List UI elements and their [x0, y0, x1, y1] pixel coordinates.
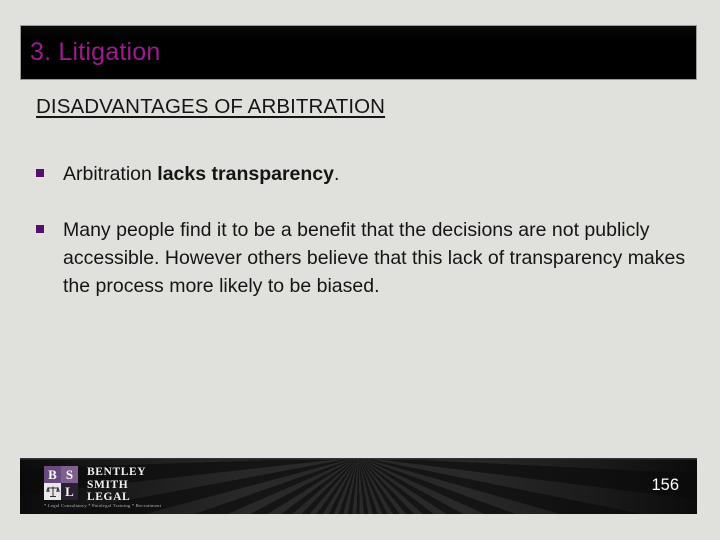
- logo-letter-l: L: [61, 483, 78, 500]
- square-bullet-icon: [36, 169, 44, 177]
- list-item: Many people find it to be a benefit that…: [36, 216, 686, 300]
- logo-mark: B S L: [44, 466, 78, 500]
- logo-tagline: * Legal Consultancy * Paralegal Training…: [44, 503, 161, 509]
- logo-letter-b: B: [44, 466, 61, 483]
- list-item-text: Many people find it to be a benefit that…: [63, 216, 686, 300]
- footer-top-edge: [20, 458, 697, 460]
- logo-letter-s: S: [61, 466, 78, 483]
- scales-of-justice-icon: [44, 483, 61, 500]
- slide-footer: B S L BENTLEY: [20, 458, 697, 514]
- bullet-list: Arbitration lacks transparency. Many peo…: [36, 160, 686, 328]
- page-title: 3. Litigation: [30, 34, 160, 70]
- logo-word-legal: LEGAL: [87, 491, 146, 504]
- list-item-text-part: Many people find it to be a benefit that…: [63, 219, 685, 297]
- slide: 3. Litigation DISADVANTAGES OF ARBITRATI…: [0, 0, 720, 540]
- brand-logo: B S L BENTLEY: [44, 466, 146, 504]
- list-item-text-part: .: [334, 163, 339, 185]
- list-item-text-part: Arbitration: [63, 163, 157, 185]
- logo-word-smith: SMITH: [87, 479, 146, 492]
- page-number: 156: [651, 475, 679, 495]
- slide-title-bar: 3. Litigation: [20, 25, 697, 80]
- logo-wordmark: BENTLEY SMITH LEGAL: [87, 466, 146, 504]
- list-item: Arbitration lacks transparency.: [36, 160, 686, 188]
- list-item-text: Arbitration lacks transparency.: [63, 160, 686, 188]
- logo-word-bentley: BENTLEY: [87, 466, 146, 479]
- section-heading: DISADVANTAGES OF ARBITRATION: [36, 95, 385, 119]
- list-item-text-emphasis: lacks transparency: [157, 163, 334, 185]
- square-bullet-icon: [36, 225, 44, 233]
